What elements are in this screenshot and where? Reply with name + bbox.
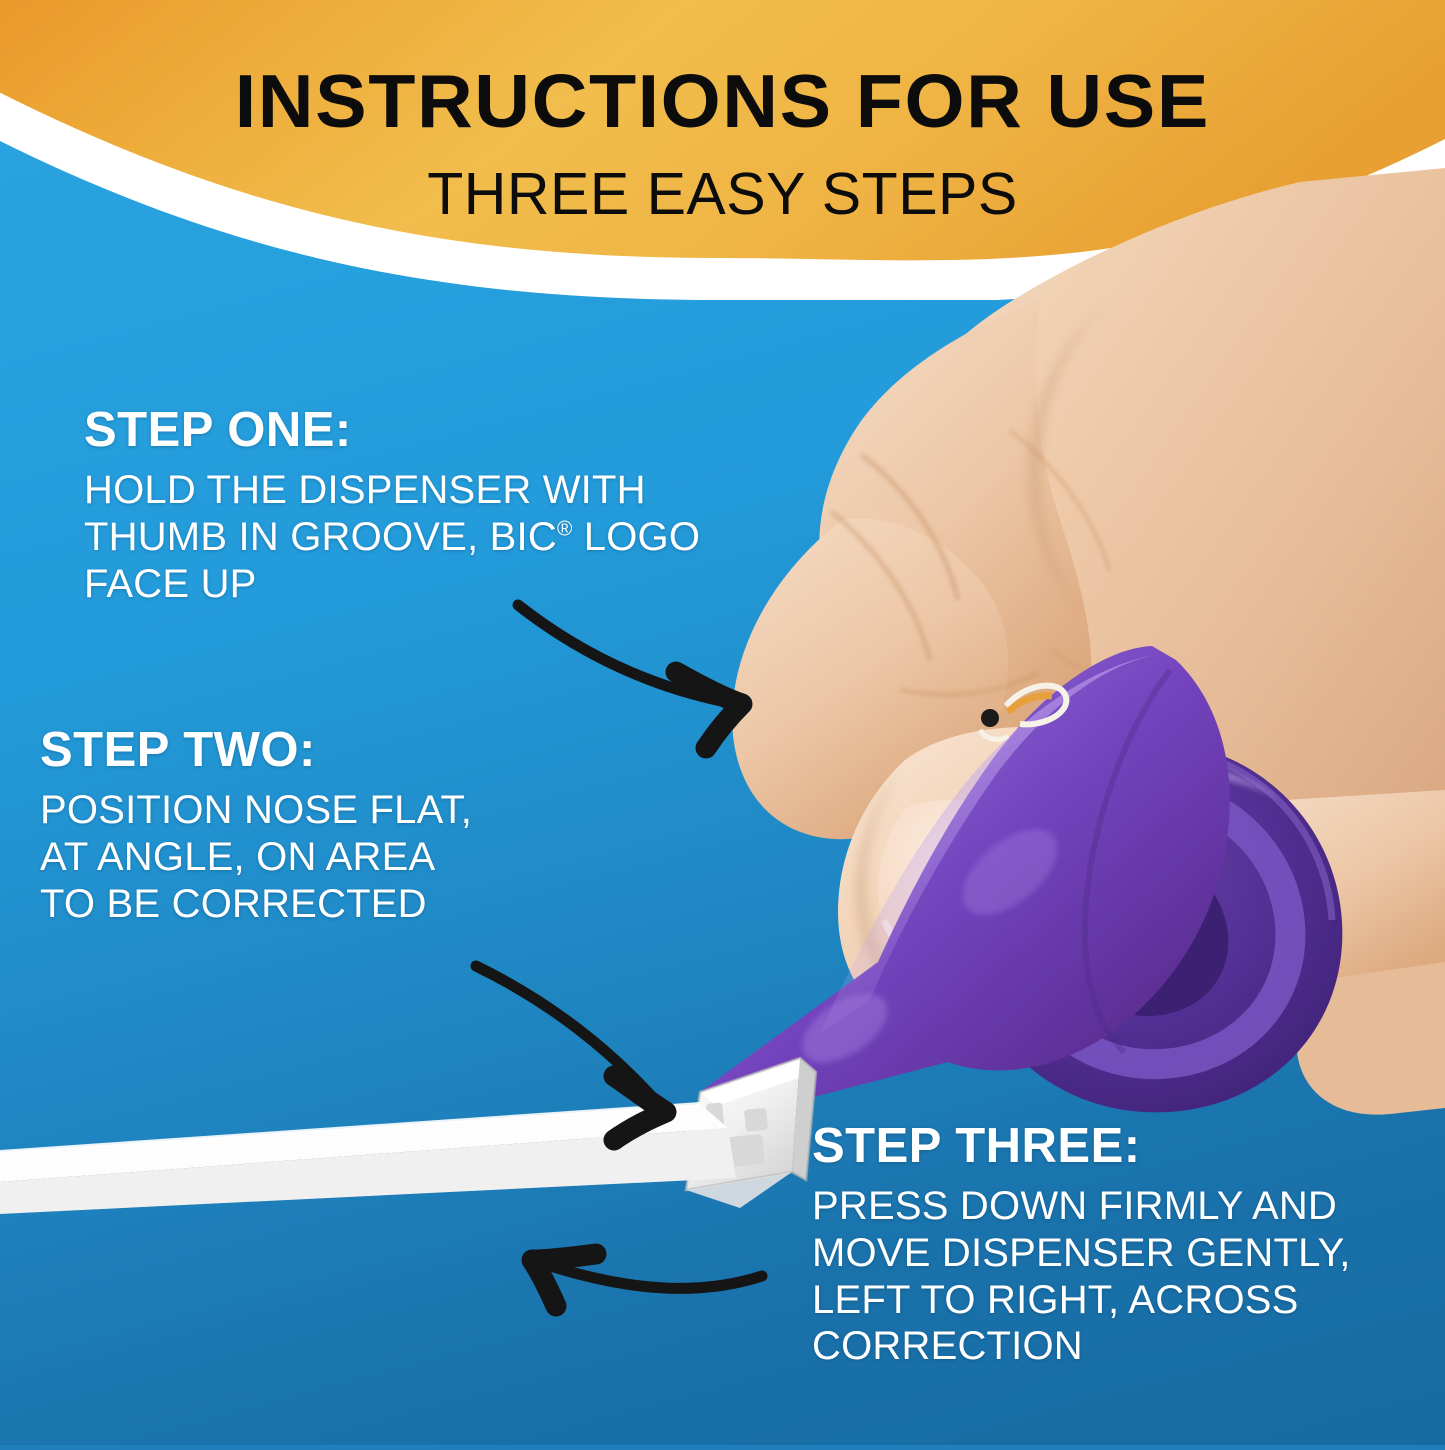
arrow-to-step-one [518,605,742,748]
arrow-to-step-three [532,1254,762,1306]
arrows-svg [0,0,1445,1445]
arrow-annotations [0,0,1445,1445]
arrow-to-step-two [476,966,666,1140]
